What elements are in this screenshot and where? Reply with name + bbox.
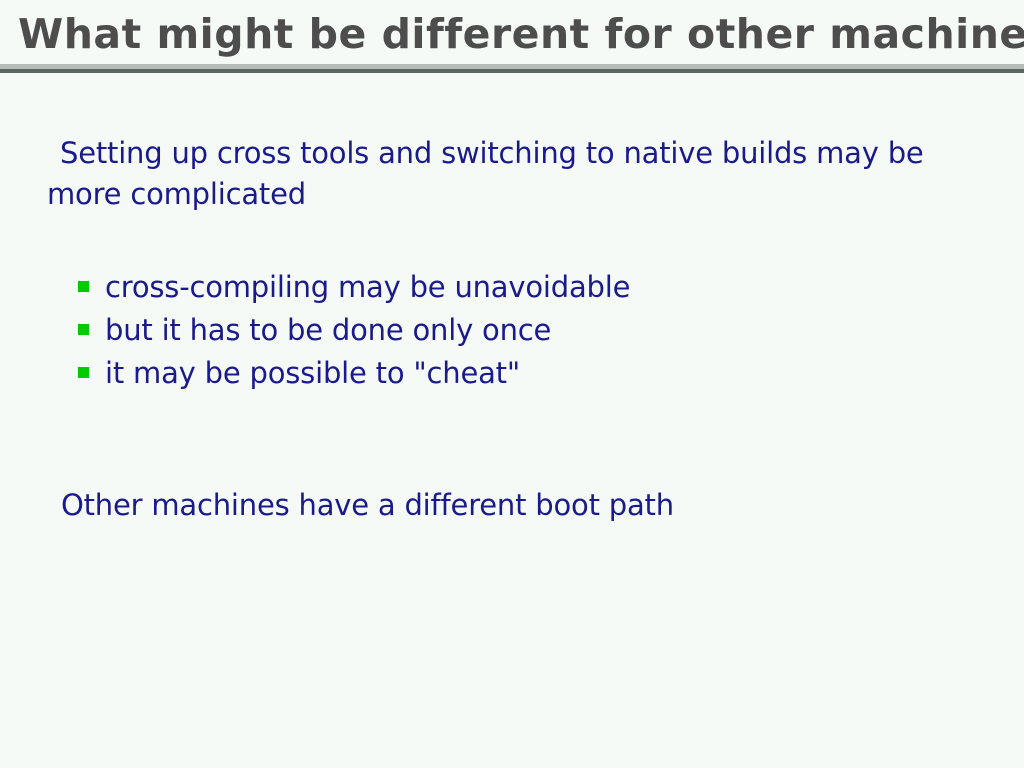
bullet-list: cross-compiling may be unavoidable but i… xyxy=(78,266,630,395)
intro-paragraph-text: Setting up cross tools and switching to … xyxy=(47,136,924,211)
slide-body: Setting up cross tools and switching to … xyxy=(0,73,1024,768)
presentation-slide: What might be different for other machin… xyxy=(0,0,1024,768)
list-item-label: it may be possible to "cheat" xyxy=(105,353,520,394)
closing-paragraph: Other machines have a different boot pat… xyxy=(61,485,961,526)
list-item: it may be possible to "cheat" xyxy=(78,352,630,395)
square-bullet-icon xyxy=(78,324,89,335)
slide-title: What might be different for other machin… xyxy=(18,8,1008,60)
square-bullet-icon xyxy=(78,281,89,292)
intro-paragraph: Setting up cross tools and switching to … xyxy=(47,133,967,215)
list-item-label: cross-compiling may be unavoidable xyxy=(105,267,630,308)
title-divider xyxy=(0,64,1024,73)
list-item-label: but it has to be done only once xyxy=(105,310,551,351)
list-item: cross-compiling may be unavoidable xyxy=(78,266,630,309)
square-bullet-icon xyxy=(78,367,89,378)
list-item: but it has to be done only once xyxy=(78,309,630,352)
